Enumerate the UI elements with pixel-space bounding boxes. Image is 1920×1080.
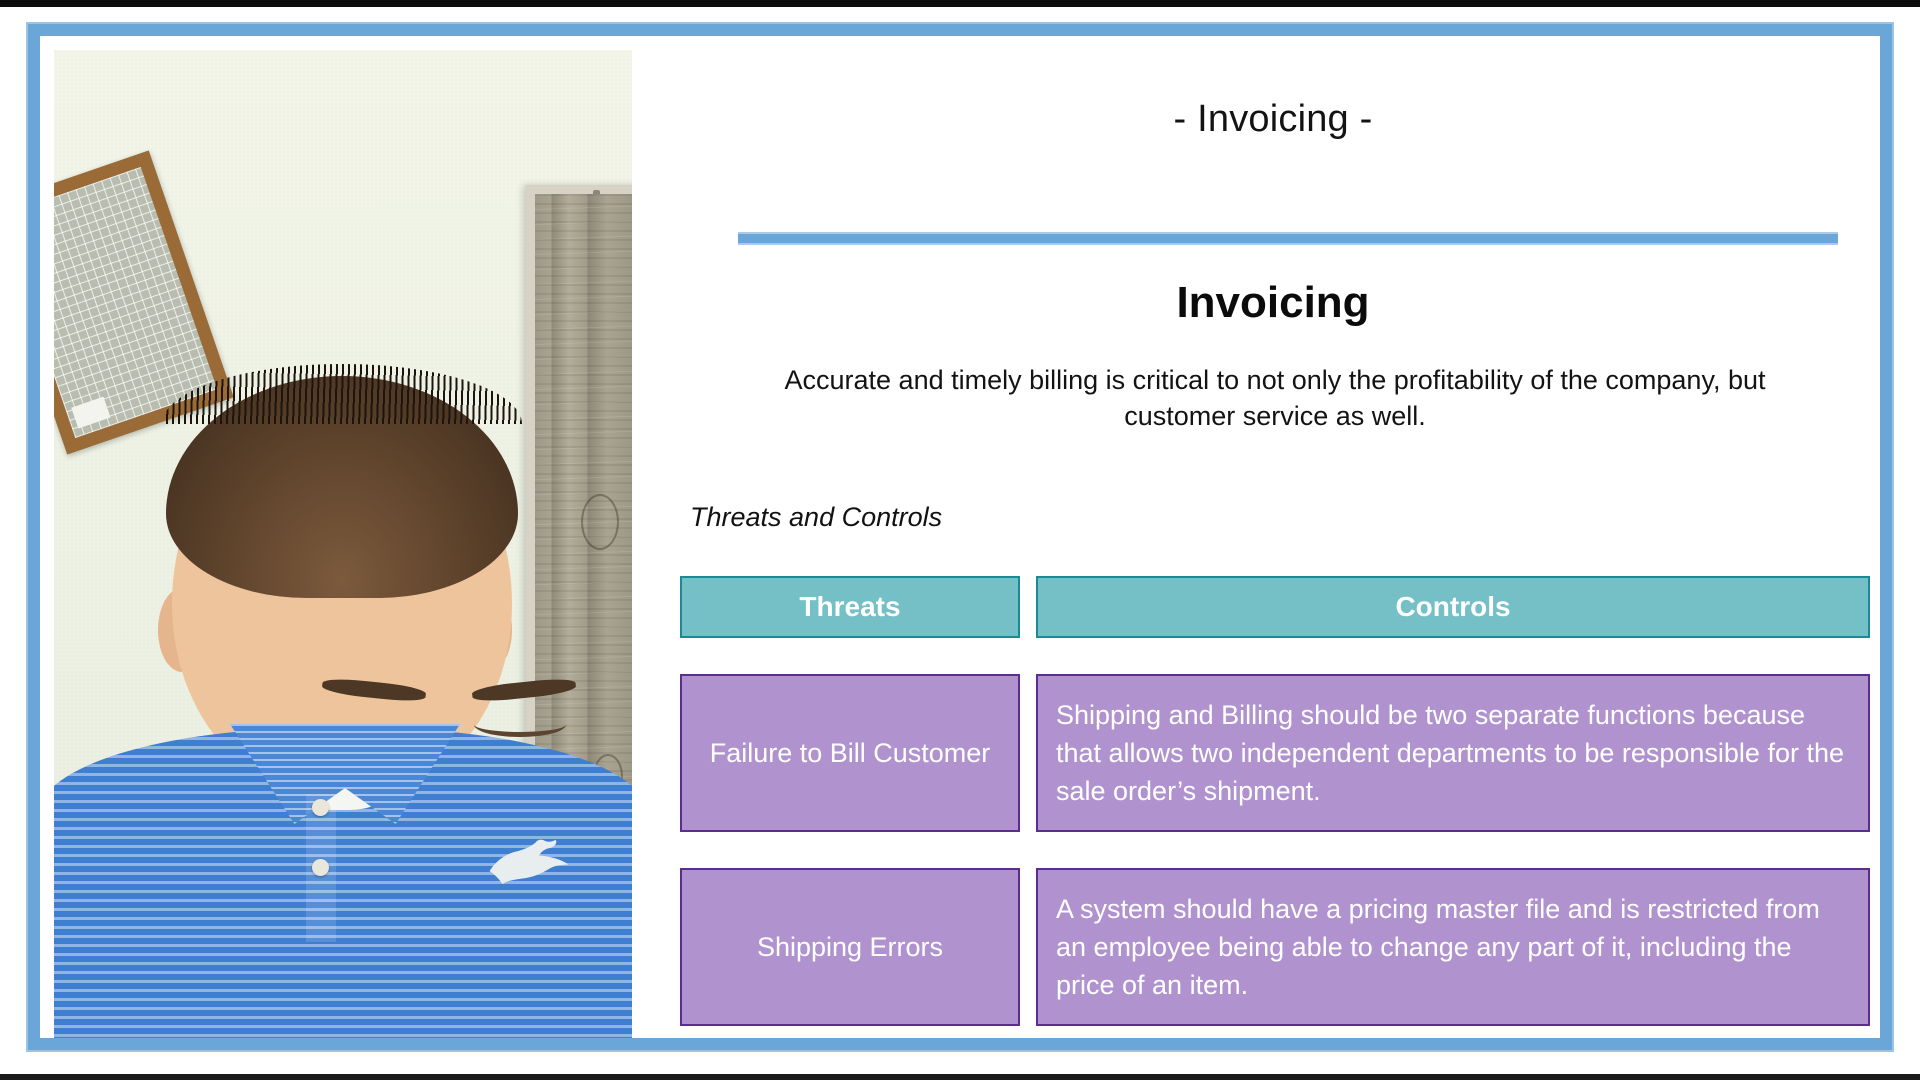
bottom-letterbox-bar <box>0 1074 1920 1080</box>
intro-paragraph: Accurate and timely billing is critical … <box>730 362 1820 435</box>
eyebrow-right <box>471 677 576 704</box>
row-spacer <box>680 846 1870 868</box>
presenter-figure <box>54 338 632 1038</box>
slide-content-panel: - Invoicing - Invoicing Accurate and tim… <box>666 50 1880 1038</box>
top-letterbox-bar <box>0 0 1920 7</box>
page-title: Invoicing <box>666 278 1880 328</box>
threat-cell: Failure to Bill Customer <box>680 674 1020 832</box>
slide-stage: - Invoicing - Invoicing Accurate and tim… <box>0 0 1920 1080</box>
shirt-button-bottom <box>312 859 329 876</box>
title-divider-rule <box>738 232 1838 245</box>
threats-controls-table: Threats Controls Failure to Bill Custome… <box>680 576 1870 1040</box>
control-cell: A system should have a pricing master fi… <box>1036 868 1870 1026</box>
row-spacer <box>680 652 1870 674</box>
threat-cell: Shipping Errors <box>680 868 1020 1026</box>
table-row: Failure to Bill Customer Shipping and Bi… <box>680 674 1870 832</box>
section-label: Threats and Controls <box>690 502 942 533</box>
column-header-threats: Threats <box>680 576 1020 638</box>
puma-logo-icon <box>484 834 576 888</box>
hair <box>166 376 518 598</box>
presenter-video-panel[interactable] <box>54 50 632 1038</box>
shirt-button-top <box>312 799 329 816</box>
column-header-controls: Controls <box>1036 576 1870 638</box>
control-cell: Shipping and Billing should be two separ… <box>1036 674 1870 832</box>
slide-breadcrumb-title: - Invoicing - <box>666 98 1880 141</box>
eyebrow-left <box>321 677 426 704</box>
slide-frame: - Invoicing - Invoicing Accurate and tim… <box>26 22 1894 1052</box>
table-header-row: Threats Controls <box>680 576 1870 638</box>
table-row: Shipping Errors A system should have a p… <box>680 868 1870 1026</box>
